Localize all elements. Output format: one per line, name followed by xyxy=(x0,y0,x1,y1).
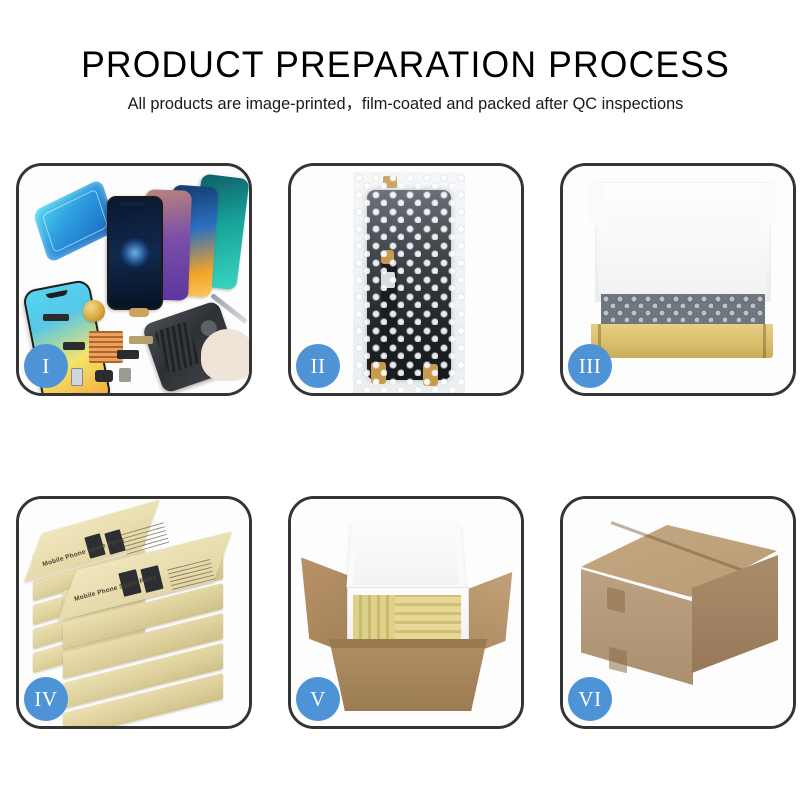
step-card-6: VI xyxy=(560,496,796,729)
part-chip xyxy=(119,368,131,382)
part-chip xyxy=(129,308,149,317)
step-card-4: Mobile Phone Spare Parts Mobile Phone Sp… xyxy=(16,496,252,729)
step-card-2: II xyxy=(288,163,524,396)
carton-tape-patch xyxy=(609,647,627,673)
kraft-box-front xyxy=(591,324,773,358)
gold-coil-part xyxy=(83,300,105,322)
page-subtitle: All products are image-printed，film-coat… xyxy=(4,93,807,115)
step-badge-6: VI xyxy=(568,677,612,721)
part-chip xyxy=(43,314,69,321)
outer-carton-body xyxy=(329,639,487,711)
step-card-3: III xyxy=(560,163,796,396)
process-steps-grid: I II xyxy=(16,163,796,729)
part-chip xyxy=(117,350,139,359)
foam-lid xyxy=(346,522,466,591)
phone-screen-fan xyxy=(99,174,249,304)
step-badge-4: IV xyxy=(24,677,68,721)
hand xyxy=(201,329,249,381)
part-chip xyxy=(63,342,85,350)
step-badge-2: II xyxy=(296,344,340,388)
bubble-texture xyxy=(353,172,465,393)
part-chip xyxy=(95,370,113,382)
packed-yellow-boxes xyxy=(353,595,461,639)
step-card-1: I xyxy=(16,163,252,396)
bubble-wrap-layer xyxy=(601,294,765,326)
step-badge-5: V xyxy=(296,677,340,721)
part-chip xyxy=(129,336,153,344)
step-badge-3: III xyxy=(568,344,612,388)
foam-sheet xyxy=(599,226,767,296)
product-preparation-page: PRODUCT PREPARATION PROCESS All products… xyxy=(0,0,811,811)
part-chip xyxy=(71,368,83,386)
bubble-wrap-bag xyxy=(353,172,465,393)
carton-tape-patch xyxy=(607,587,625,613)
page-header: PRODUCT PREPARATION PROCESS All products… xyxy=(0,44,811,115)
step-badge-1: I xyxy=(24,344,68,388)
step-card-5: V xyxy=(288,496,524,729)
phone-dark-blue xyxy=(107,196,163,310)
page-title: PRODUCT PREPARATION PROCESS xyxy=(16,44,795,86)
